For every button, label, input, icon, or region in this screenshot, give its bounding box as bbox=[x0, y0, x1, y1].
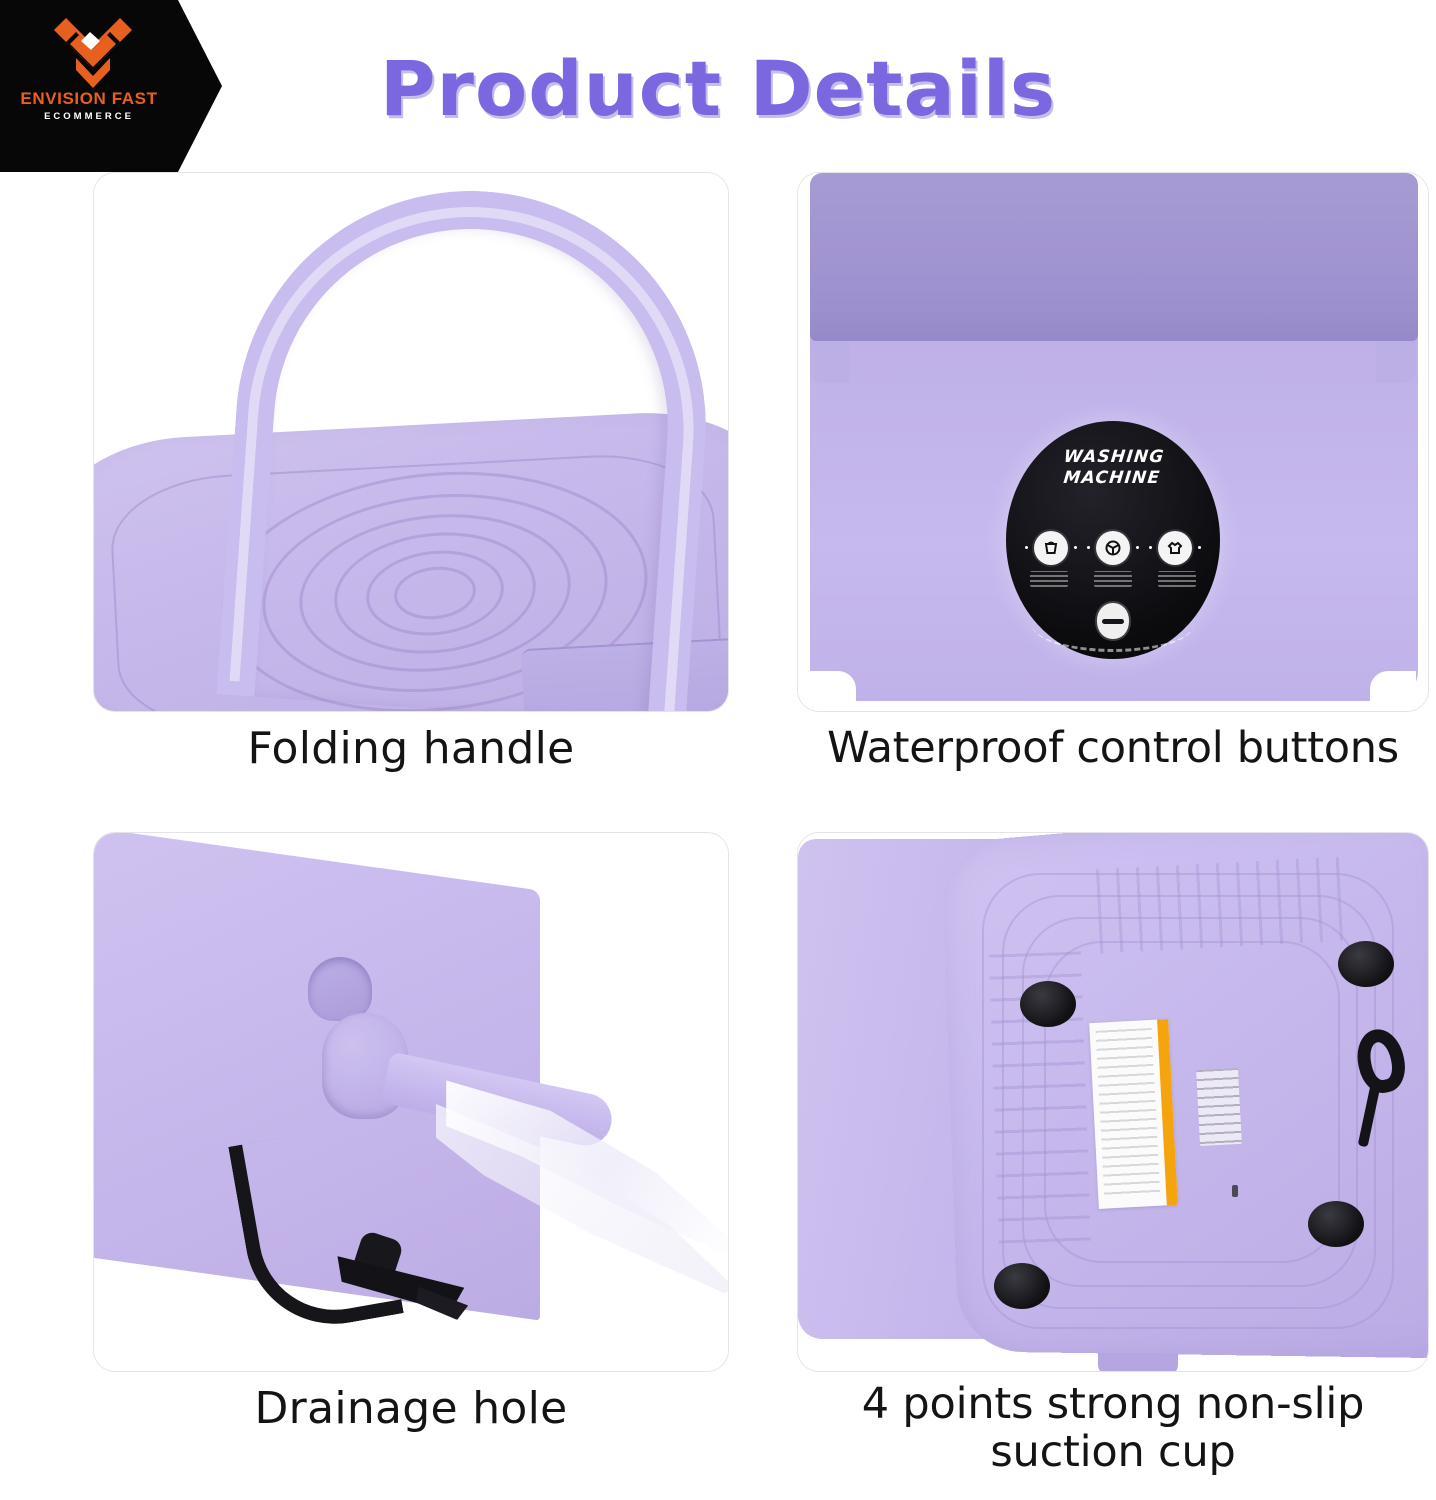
panel-brand-line-1: WASHING bbox=[1063, 447, 1166, 467]
suction-cup bbox=[1338, 941, 1394, 987]
body-foot-right bbox=[1370, 671, 1416, 711]
control-buttons-illustration: WASHING MACHINE bbox=[798, 173, 1428, 711]
brand-tagline: ECOMMERCE bbox=[44, 112, 134, 122]
label-text-lines bbox=[1096, 1028, 1161, 1201]
product-photo-folding-handle bbox=[93, 172, 729, 712]
folding-handle-illustration bbox=[94, 173, 728, 711]
control-panel-disc: WASHING MACHINE bbox=[1006, 421, 1220, 659]
detail-panel-drainage-hole: Drainage hole bbox=[93, 832, 729, 1372]
brand-banner-content: ENVISION FAST ECOMMERCE bbox=[0, 0, 178, 172]
body-notch-left bbox=[810, 341, 850, 383]
detail-panel-folding-handle: Folding handle bbox=[93, 172, 729, 712]
product-rating-label bbox=[1089, 1019, 1178, 1209]
product-photo-drainage-hole bbox=[93, 832, 729, 1372]
control-button-row bbox=[1006, 531, 1220, 565]
timer-button[interactable] bbox=[1158, 531, 1192, 565]
body-notch-right bbox=[1376, 341, 1416, 383]
brand-banner: ENVISION FAST ECOMMERCE bbox=[0, 0, 222, 172]
base-vent-slots-top bbox=[1096, 857, 1350, 954]
product-detail-grid: Folding handle WASHING MACHINE bbox=[0, 172, 1436, 1500]
caption-line-2: suction cup bbox=[797, 1428, 1429, 1476]
body-foot-left bbox=[810, 671, 856, 711]
suction-cup bbox=[994, 1263, 1050, 1309]
caption-line-1: 4 points strong non-slip bbox=[797, 1380, 1429, 1428]
panel-caption-suction-cups: 4 points strong non-slip suction cup bbox=[797, 1380, 1429, 1476]
control-panel-brand-text: WASHING MACHINE bbox=[1004, 447, 1222, 488]
drainage-hole-illustration bbox=[94, 833, 728, 1371]
panel-caption-control-buttons: Waterproof control buttons bbox=[797, 724, 1429, 772]
button-label-text bbox=[1030, 571, 1068, 587]
clothes-icon bbox=[1166, 539, 1184, 557]
certification-sticker bbox=[1196, 1068, 1242, 1146]
button-label-text bbox=[1158, 571, 1196, 587]
detail-panel-suction-cups: 4 points strong non-slip suction cup bbox=[797, 832, 1429, 1372]
suction-cup bbox=[1020, 981, 1076, 1027]
brand-name: ENVISION FAST bbox=[20, 90, 157, 107]
spin-dry-icon bbox=[1104, 539, 1122, 557]
panel-brand-line-2: MACHINE bbox=[1062, 468, 1161, 488]
spin-dry-button[interactable] bbox=[1096, 531, 1130, 565]
button-label-text bbox=[1094, 571, 1132, 587]
drain-port-recess bbox=[308, 957, 372, 1021]
control-button-labels bbox=[1006, 571, 1220, 587]
detail-panel-control-buttons: WASHING MACHINE bbox=[797, 172, 1429, 712]
laundry-basket-icon bbox=[1042, 539, 1060, 557]
machine-top-lid-shape bbox=[810, 173, 1418, 341]
base-bottom-nub bbox=[1098, 1353, 1178, 1372]
envision-chevron-logo-icon bbox=[46, 14, 132, 88]
product-photo-control-buttons: WASHING MACHINE bbox=[797, 172, 1429, 712]
suction-cups-illustration bbox=[798, 833, 1428, 1371]
wash-mode-button[interactable] bbox=[1034, 531, 1068, 565]
suction-cup bbox=[1308, 1201, 1364, 1247]
product-photo-suction-cups bbox=[797, 832, 1429, 1372]
base-screw-hole bbox=[1232, 1185, 1238, 1197]
power-button[interactable] bbox=[1097, 603, 1129, 639]
panel-caption-folding-handle: Folding handle bbox=[93, 724, 729, 773]
panel-caption-drainage-hole: Drainage hole bbox=[93, 1384, 729, 1433]
